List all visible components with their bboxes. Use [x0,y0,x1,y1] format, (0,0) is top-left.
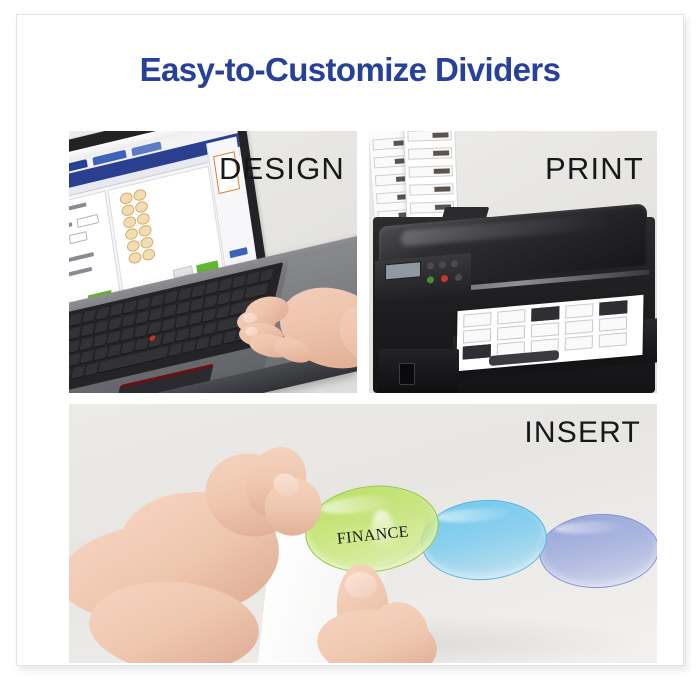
printer-lcd-display [385,261,421,280]
panel-print: PRINT [369,131,657,393]
product-feature-card: Easy-to-Customize Dividers [16,14,684,666]
hand-on-keyboard [219,283,357,393]
panel-design: DESIGN [69,131,357,393]
tab-highlight [436,506,511,524]
printer-port [399,363,415,385]
printer-control-panel [375,253,471,303]
hand-right-inserting-label [297,554,447,663]
tab-highlight [554,520,625,536]
printer-base [379,349,459,393]
panel-label-print: PRINT [545,153,644,184]
page-title: Easy-to-Customize Dividers [17,51,683,89]
divider-tab-purple [537,511,657,591]
panel-insert: FINANCE INSERT [69,404,657,663]
panel-label-design: DESIGN [219,153,345,184]
panel-label-insert: INSERT [524,418,641,448]
